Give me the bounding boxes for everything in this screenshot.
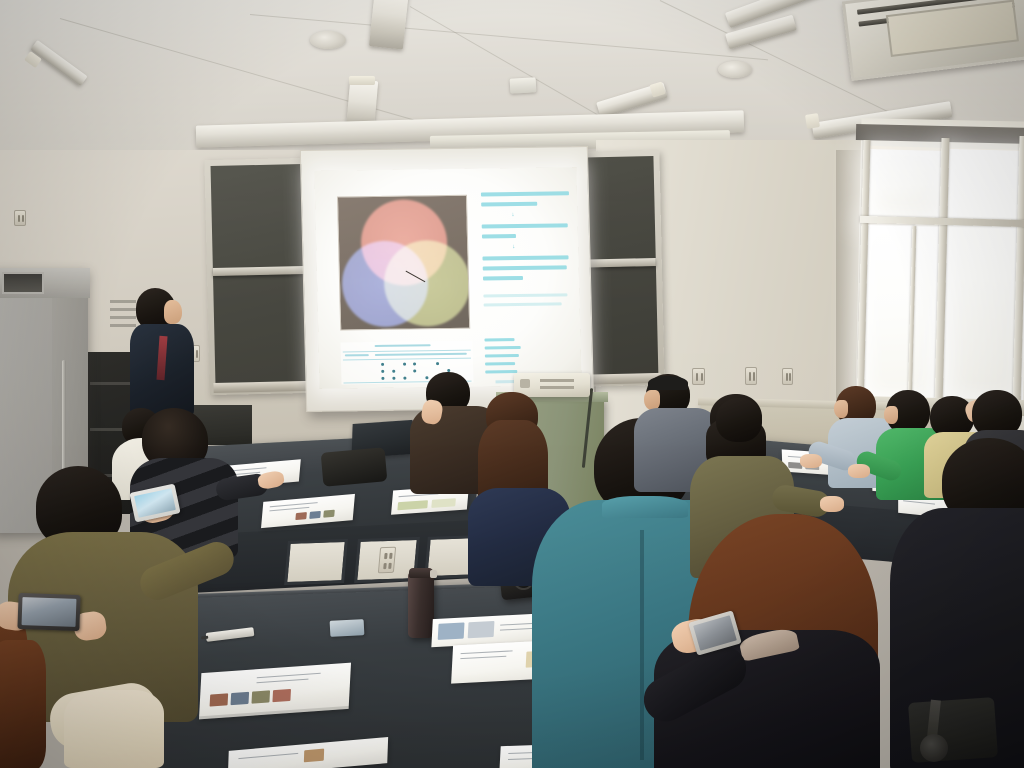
slide-down-arrow-icon: ↓ bbox=[511, 212, 514, 218]
person-foreground-hair-left bbox=[0, 640, 46, 768]
table-dot-marker bbox=[413, 362, 416, 365]
slide-text-line bbox=[481, 202, 537, 207]
slide-text-line bbox=[485, 346, 521, 350]
chair-caster-icon bbox=[920, 734, 948, 762]
drink-bottle-clip bbox=[430, 570, 437, 578]
slide-text-line bbox=[484, 338, 514, 341]
slide-text-line bbox=[482, 234, 516, 238]
attendee-shirt-seam bbox=[640, 530, 644, 760]
attendee-face bbox=[834, 400, 848, 418]
refrigerator-handle[interactable] bbox=[62, 360, 66, 480]
table-dot-marker bbox=[425, 376, 428, 379]
table-dot-marker bbox=[413, 369, 416, 372]
slide-text-line bbox=[483, 276, 523, 281]
smartphone[interactable] bbox=[17, 593, 80, 631]
table-dot-marker bbox=[381, 363, 384, 366]
attendee-headband bbox=[648, 376, 688, 390]
attendee-face bbox=[884, 406, 898, 424]
slide-text-line-faint bbox=[483, 293, 567, 297]
bright-daylight-glass bbox=[865, 149, 943, 221]
fluorescent-tube-end-cap bbox=[349, 76, 375, 85]
small-device-card[interactable] bbox=[330, 619, 365, 637]
table-dot-marker bbox=[381, 377, 384, 380]
table-column-header bbox=[375, 353, 467, 356]
table-dot-marker bbox=[381, 370, 384, 373]
attendee-hand bbox=[820, 496, 844, 512]
projector-vent bbox=[540, 379, 574, 382]
slide-text-column: ↓ ↓ bbox=[481, 189, 577, 336]
attendee-head bbox=[716, 398, 762, 442]
slide-text-line bbox=[483, 265, 567, 270]
table-dot-marker bbox=[392, 377, 395, 380]
power-outlet[interactable] bbox=[14, 210, 26, 226]
slide-text-line bbox=[482, 255, 568, 260]
rgb-additive-color-venn-diagram bbox=[337, 195, 470, 331]
attendee-hand bbox=[800, 454, 822, 468]
table-rule bbox=[343, 358, 471, 361]
table-projector[interactable] bbox=[514, 373, 590, 397]
slide-text-line bbox=[485, 362, 515, 365]
fluorescent-tube-fixture bbox=[369, 0, 409, 50]
presenter-face bbox=[164, 300, 182, 324]
table-dot-marker bbox=[403, 363, 406, 366]
insulated-drink-bottle[interactable] bbox=[408, 572, 434, 638]
smartphone-screen bbox=[134, 488, 176, 517]
table-modesty-panel bbox=[284, 539, 348, 585]
table-dot-marker bbox=[436, 362, 439, 365]
ceiling-smoke-detector bbox=[310, 31, 346, 49]
power-outlet[interactable] bbox=[378, 547, 396, 574]
refrigerator-vent-grille bbox=[2, 272, 44, 294]
slide-text-line bbox=[482, 223, 568, 228]
projector-vent bbox=[540, 386, 574, 389]
power-outlet[interactable] bbox=[692, 368, 705, 385]
table-dot-marker bbox=[392, 370, 395, 373]
attendee-shirt-collar bbox=[602, 496, 688, 518]
power-outlet[interactable] bbox=[782, 368, 793, 385]
slide-text-line bbox=[485, 370, 517, 373]
table-dot-marker bbox=[403, 377, 406, 380]
slide-text-line bbox=[481, 191, 569, 196]
attendee-face bbox=[644, 390, 660, 410]
power-outlet[interactable] bbox=[745, 367, 757, 385]
bright-daylight-glass bbox=[943, 149, 1024, 403]
table-column-header bbox=[345, 354, 369, 356]
projector-lens-icon bbox=[520, 379, 530, 388]
ceiling-smoke-detector bbox=[718, 61, 752, 78]
slide-down-arrow-icon: ↓ bbox=[512, 244, 515, 250]
lecture-room-photo: ↓ ↓ bbox=[0, 0, 1024, 768]
camera-bag[interactable] bbox=[321, 447, 388, 486]
slide-text-line-faint bbox=[484, 302, 562, 306]
table-caption bbox=[375, 344, 431, 347]
fluorescent-tube-end-cap bbox=[805, 113, 820, 129]
ceiling-speaker-box bbox=[510, 77, 537, 93]
bright-daylight-glass bbox=[862, 225, 945, 403]
projected-slide: ↓ ↓ bbox=[314, 167, 581, 389]
smartphone-screen bbox=[693, 615, 737, 650]
attendee-hand bbox=[848, 464, 870, 478]
smartphone-screen bbox=[22, 597, 77, 627]
air-conditioning-vent bbox=[842, 0, 1024, 81]
slide-text-line bbox=[485, 354, 519, 357]
person-foreground-cream-cuff bbox=[64, 690, 164, 768]
